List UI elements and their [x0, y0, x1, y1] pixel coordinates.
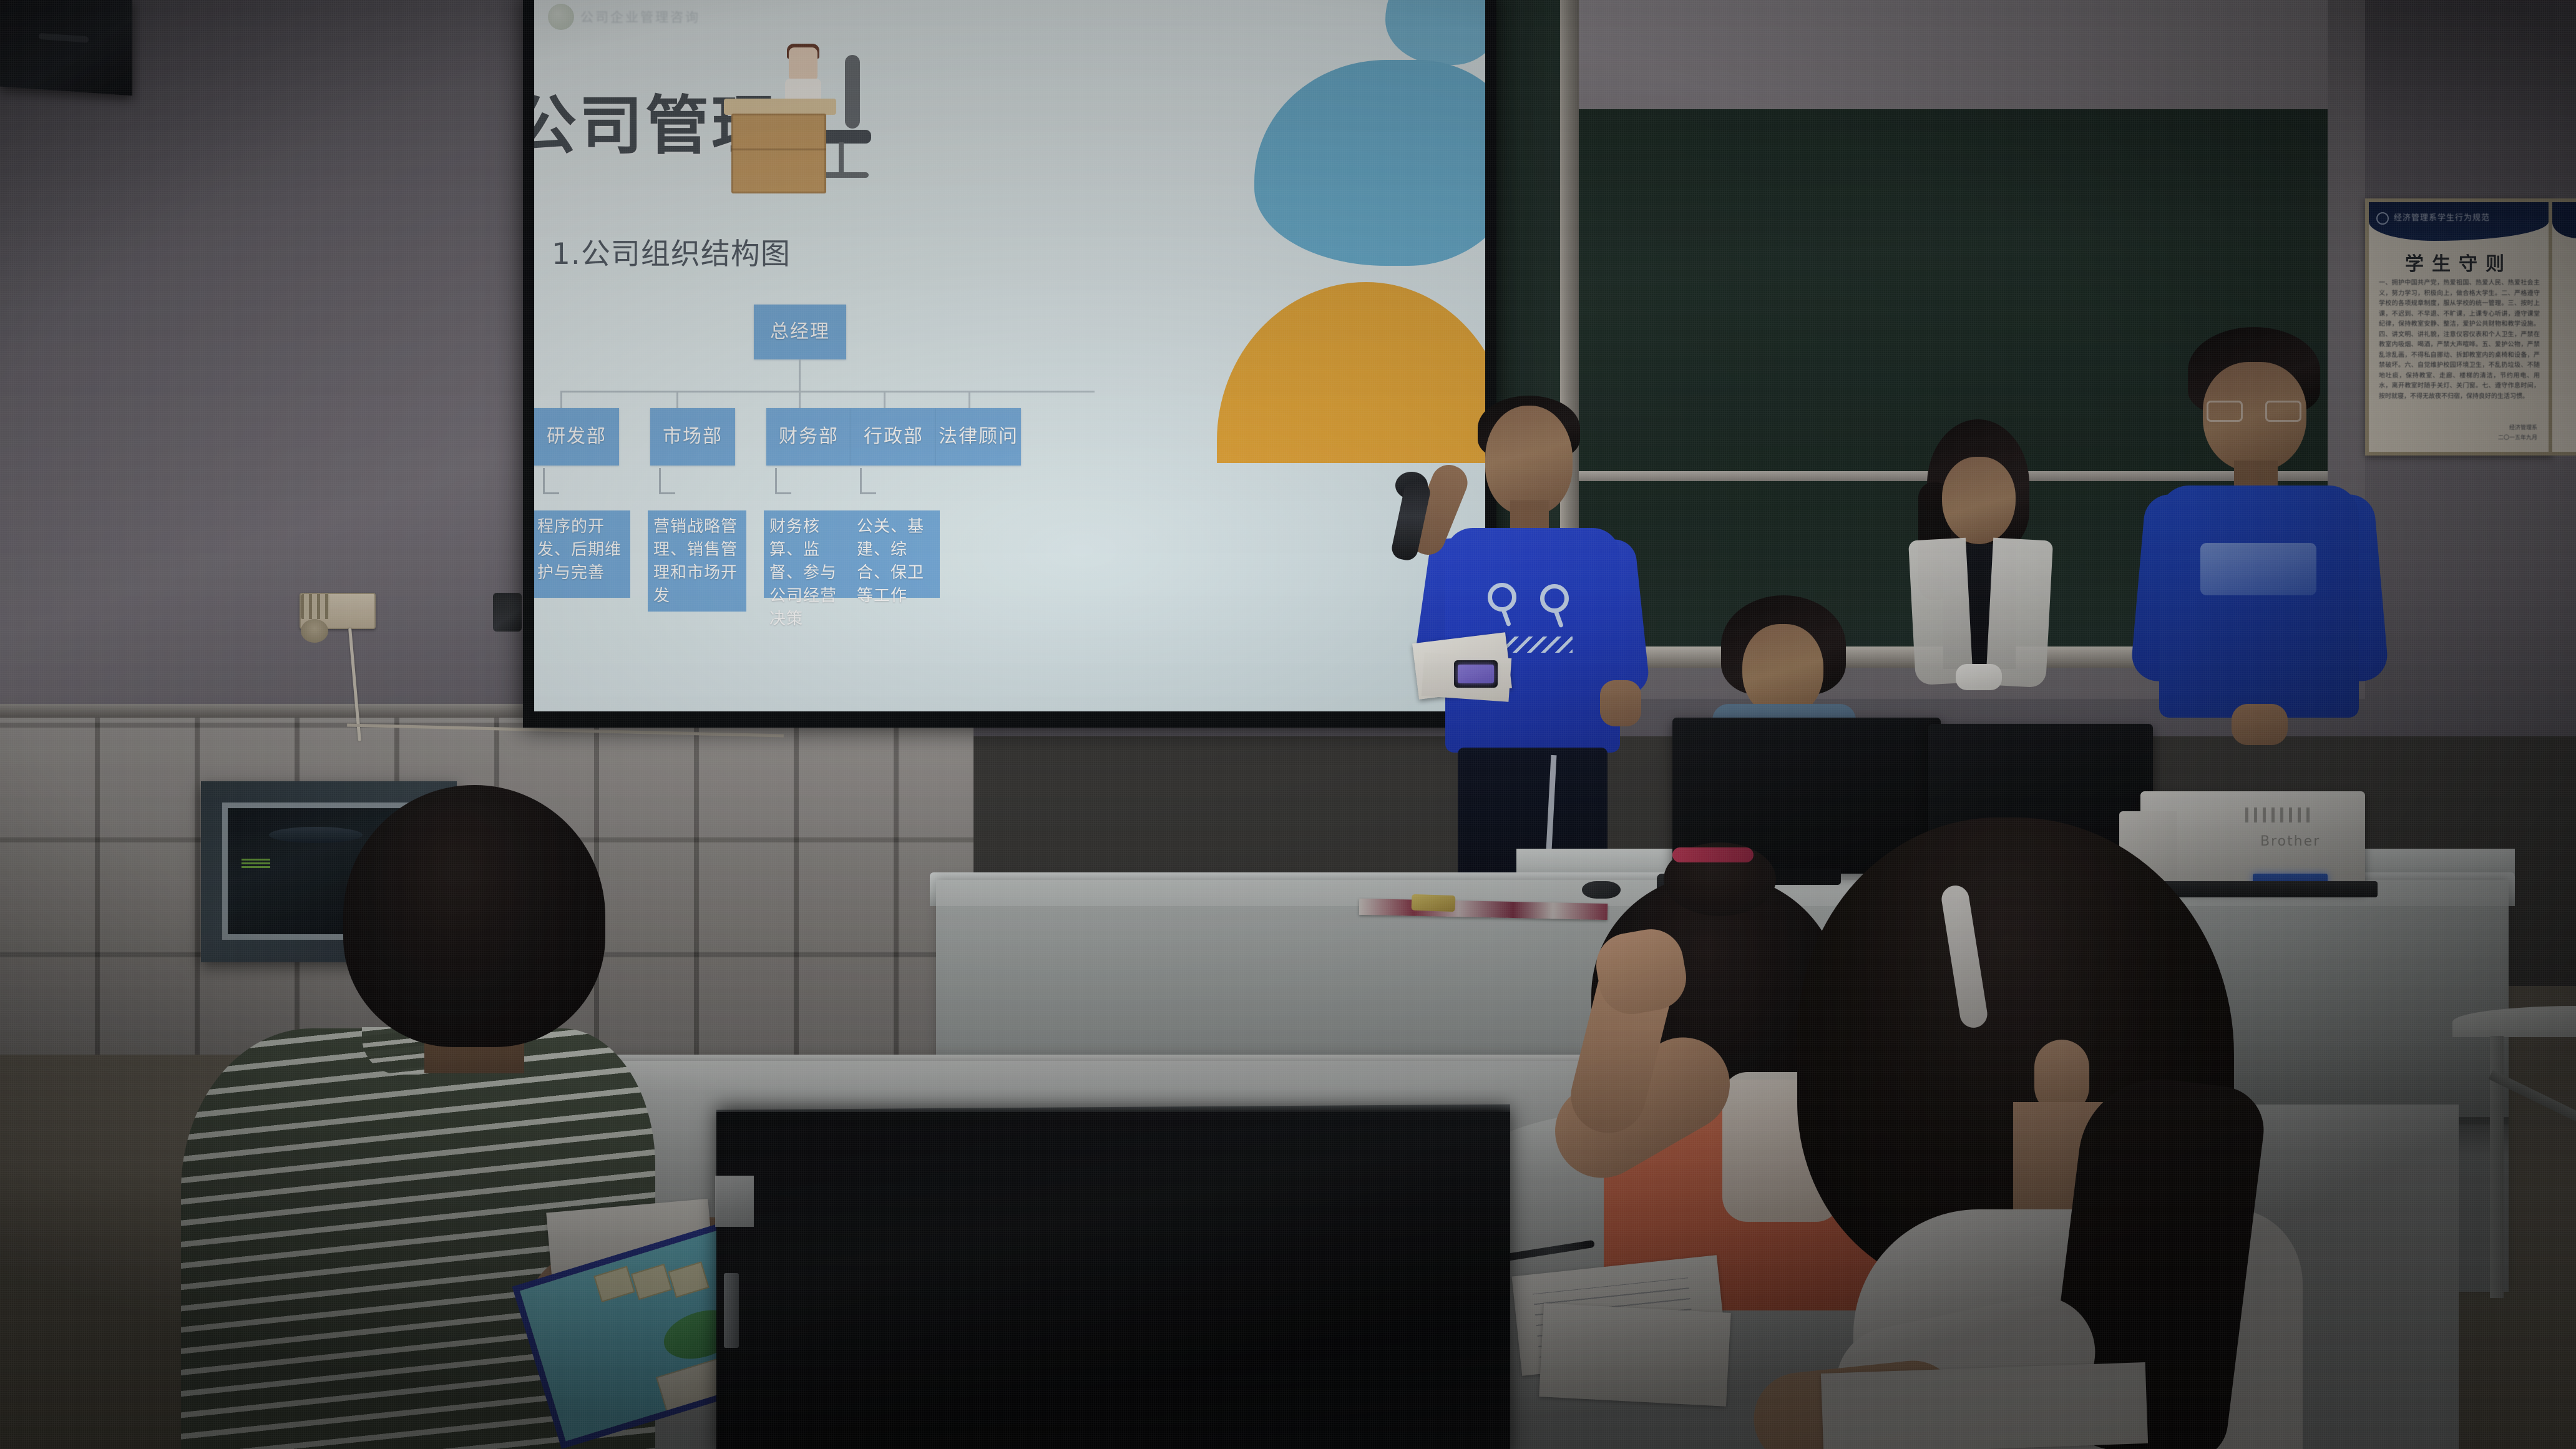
presenter-hand-right	[1600, 680, 1641, 726]
board-game-cell-1	[593, 1266, 635, 1302]
org-node-dept-5: 法律顾问	[936, 408, 1021, 466]
org-chart: 总经理 研发部 市场部 财务部 行政部 法律顾问 程序的开发、后期维护与完善 营…	[534, 305, 1314, 679]
teammate-female-shawl-left	[1908, 538, 1973, 685]
org-node-dept-1: 研发部	[534, 408, 619, 466]
slide-brand-logo: 公司企业管理咨询	[548, 4, 700, 30]
org-desc-dept-3: 财务核算、监督、参与公司经营决策	[764, 510, 857, 598]
person-teammate-male	[2140, 331, 2378, 755]
striped-student-hair	[343, 785, 605, 1047]
poster-logo-icon	[2376, 212, 2389, 225]
secondary-poster-sheet	[2552, 202, 2576, 452]
poster-heading: 学生守则	[2369, 248, 2549, 276]
brand-mark-icon	[548, 4, 574, 30]
org-node-root: 总经理	[754, 305, 846, 359]
poster-body-text: 一、拥护中国共产党，热爱祖国、热爱人民、热爱社会主义，努力学习，积极向上，做合格…	[2379, 278, 2540, 402]
teammate-male-torso	[2159, 485, 2359, 718]
org-connector-drop-4	[884, 391, 885, 408]
wall-speaker	[0, 0, 132, 95]
poster-band-text: 经济管理系学生行为规范	[2394, 211, 2490, 223]
tshirt-eye-left-icon	[1488, 583, 1516, 612]
org-connector-root-vertical	[799, 359, 801, 391]
wall-power-outlet[interactable]	[300, 593, 376, 629]
teammate-male-glasses-left-icon	[2207, 401, 2243, 422]
poster-signature-line2: 二〇一五年九月	[2498, 433, 2537, 443]
smartphone-screen	[1458, 665, 1494, 683]
org-desc-dept-1: 程序的开发、后期维护与完善	[534, 510, 630, 598]
org-connector-drop-5	[968, 391, 970, 408]
poster-sheet: 经济管理系学生行为规范 学生守则 一、拥护中国共产党，热爱祖国、热爱人民、热爱社…	[2369, 202, 2549, 452]
poster-signature: 经济管理系 二〇一五年九月	[2498, 423, 2537, 443]
org-node-dept-2: 市场部	[650, 408, 735, 466]
projection-screen-frame: 公司企业管理咨询 公司管理 1.公司组织结构图 总经理	[523, 0, 1496, 728]
clipart-chair-back-icon	[845, 55, 860, 129]
teammate-male-hands	[2232, 704, 2288, 745]
person-teammate-female	[1891, 424, 2066, 711]
banner-object	[1412, 894, 1456, 912]
org-hook-2	[659, 468, 675, 494]
clipart-desk-body-icon	[731, 114, 826, 193]
wall-conduit-box	[493, 593, 522, 632]
black-display-board	[716, 1112, 1510, 1449]
org-desc-dept-2: 营销战略管理、销售管理和市场开发	[648, 510, 746, 612]
org-desc-dept-4: 公关、基建、综合、保卫等工作	[851, 510, 940, 598]
tshirt-eye-right-icon	[1540, 584, 1569, 613]
org-hook-3	[775, 468, 791, 494]
poster-signature-line1: 经济管理系	[2498, 423, 2537, 433]
secondary-poster-band	[2552, 202, 2576, 238]
wall-above-blackboard	[1579, 0, 2328, 109]
clipart-head-icon	[789, 47, 817, 80]
outlet-socket-icon	[301, 594, 329, 619]
org-node-dept-4: 行政部	[851, 408, 936, 466]
teammate-female-shawl-knot	[1956, 664, 2002, 690]
teammate-male-shirt-print	[2200, 543, 2316, 595]
board-game-cell-2	[631, 1264, 672, 1300]
board-game-cell-3	[668, 1261, 709, 1297]
org-node-dept-3: 财务部	[766, 408, 851, 466]
org-hook-1	[543, 468, 559, 494]
org-connector-drop-3	[799, 391, 801, 408]
org-connector-drop-2	[676, 391, 678, 408]
worksheet-2	[1539, 1303, 1730, 1406]
org-connector-drop-1	[560, 391, 562, 408]
slide-decoration-blue-small	[1385, 0, 1485, 65]
slide-subtitle: 1.公司组织结构图	[552, 230, 791, 273]
clipart-desk-top-icon	[724, 99, 836, 115]
secondary-wall-poster	[2549, 198, 2576, 456]
clipart-chair-stem-icon	[839, 142, 844, 175]
clipart-desk-drawer-icon	[731, 149, 826, 150]
outlet-switch-icon	[301, 619, 328, 643]
classroom-scene: 经济管理系学生行为规范 学生守则 一、拥护中国共产党，热爱祖国、热爱人民、热爱社…	[0, 0, 2576, 1449]
black-panel-tape	[715, 1176, 754, 1227]
teammate-female-face	[1942, 457, 2016, 544]
slide-decoration-blue-blob	[1254, 60, 1485, 266]
presenter-smartphone[interactable]	[1454, 660, 1498, 688]
projection-screen: 公司企业管理咨询 公司管理 1.公司组织结构图 总经理	[534, 0, 1485, 711]
org-connector-bus	[560, 391, 1095, 393]
teammate-male-glasses-right-icon	[2265, 401, 2301, 422]
black-panel-hinge	[724, 1273, 739, 1348]
slide-clipart-person-at-desk	[715, 75, 890, 218]
presenter-head	[1485, 406, 1573, 515]
org-hook-4	[860, 468, 876, 494]
person-student-white	[1797, 817, 2309, 1449]
coral-student-hair-tie	[1672, 847, 1754, 862]
speaker-slot-icon	[39, 33, 89, 43]
left-wall	[0, 0, 537, 718]
worksheet-3	[1821, 1362, 2148, 1449]
student-code-poster: 经济管理系学生行为规范 学生守则 一、拥护中国共产党，热爱祖国、热爱人民、热爱社…	[2365, 198, 2552, 456]
brand-text: 公司企业管理咨询	[580, 7, 700, 26]
